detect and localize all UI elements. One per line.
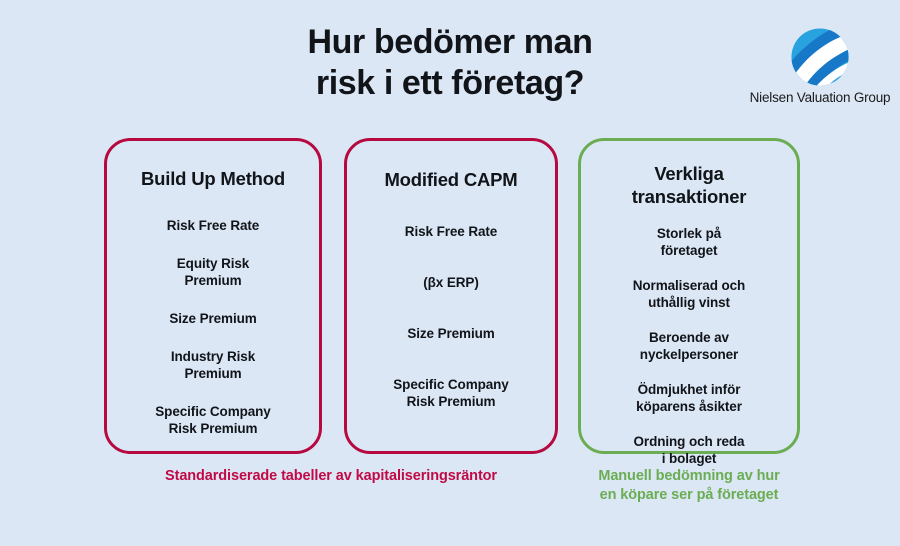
card-title-line-1: Build Up Method <box>141 168 285 189</box>
card-verkliga-transaktioner: Verkliga transaktioner Storlek på företa… <box>578 138 800 454</box>
card-title-build-up-method: Build Up Method <box>121 168 305 191</box>
brand-logo-text: Nielsen Valuation Group <box>742 90 898 105</box>
list-item-line-1: Industry Risk <box>121 348 305 365</box>
list-item-line-1: Risk Free Rate <box>361 223 541 240</box>
list-item: Ödmjukhet inför köparens åsikter <box>595 381 783 415</box>
list-item-line-1: Specific Company <box>121 403 305 420</box>
list-item-line-1: Ödmjukhet inför <box>595 381 783 398</box>
list-item-line-1: Storlek på <box>595 225 783 242</box>
list-item-line-1: Size Premium <box>121 310 305 327</box>
list-item: Normaliserad och uthållig vinst <box>595 277 783 311</box>
list-item: Risk Free Rate <box>121 217 305 234</box>
list-item-line-2: Premium <box>121 365 305 382</box>
card-title-modified-capm: Modified CAPM <box>361 169 541 192</box>
caption-manual-assessment: Manuell bedömning av hur en köpare ser p… <box>566 467 812 505</box>
caption-standardized-tables: Standardiserade tabeller av kapitaliseri… <box>104 467 558 486</box>
list-item-line-2: nyckelpersoner <box>595 346 783 363</box>
brand-logo: Nielsen Valuation Group <box>742 22 898 118</box>
list-item: Industry Risk Premium <box>121 348 305 382</box>
list-item-line-1: (βx ERP) <box>361 274 541 291</box>
list-item: Risk Free Rate <box>361 223 541 240</box>
list-item: (βx ERP) <box>361 274 541 291</box>
list-item-line-1: Beroende av <box>595 329 783 346</box>
list-item: Equity Risk Premium <box>121 255 305 289</box>
list-item-line-1: Specific Company <box>361 376 541 393</box>
card-title-verkliga-transaktioner: Verkliga transaktioner <box>595 163 783 208</box>
list-item-line-2: företaget <box>595 242 783 259</box>
list-item: Size Premium <box>121 310 305 327</box>
list-item-line-1: Normaliserad och <box>595 277 783 294</box>
list-item: Size Premium <box>361 325 541 342</box>
card-items-verkliga-transaktioner: Storlek på företaget Normaliserad och ut… <box>595 225 783 467</box>
globe-icon <box>742 22 898 92</box>
card-title-line-2: transaktioner <box>632 186 747 207</box>
card-items-build-up-method: Risk Free Rate Equity Risk Premium Size … <box>121 217 305 437</box>
list-item-line-1: Size Premium <box>361 325 541 342</box>
card-modified-capm: Modified CAPM Risk Free Rate (βx ERP) Si… <box>344 138 558 454</box>
list-item-line-2: Risk Premium <box>121 420 305 437</box>
card-build-up-method: Build Up Method Risk Free Rate Equity Ri… <box>104 138 322 454</box>
list-item: Specific Company Risk Premium <box>121 403 305 437</box>
list-item: Ordning och reda i bolaget <box>595 433 783 467</box>
list-item-line-2: Risk Premium <box>361 393 541 410</box>
card-items-modified-capm: Risk Free Rate (βx ERP) Size Premium Spe… <box>361 223 541 410</box>
list-item-line-1: Risk Free Rate <box>121 217 305 234</box>
card-title-line-1: Modified CAPM <box>384 169 517 190</box>
list-item: Specific Company Risk Premium <box>361 376 541 410</box>
list-item-line-2: uthållig vinst <box>595 294 783 311</box>
list-item: Beroende av nyckelpersoner <box>595 329 783 363</box>
list-item-line-2: köparens åsikter <box>595 398 783 415</box>
list-item-line-1: Equity Risk <box>121 255 305 272</box>
caption-line-1: Manuell bedömning av hur <box>566 467 812 486</box>
list-item-line-2: i bolaget <box>595 450 783 467</box>
methods-cards-row: Build Up Method Risk Free Rate Equity Ri… <box>0 138 900 456</box>
list-item-line-1: Ordning och reda <box>595 433 783 450</box>
list-item: Storlek på företaget <box>595 225 783 259</box>
list-item-line-2: Premium <box>121 272 305 289</box>
card-title-line-1: Verkliga <box>654 163 723 184</box>
caption-line-2: en köpare ser på företaget <box>566 486 812 505</box>
caption-line-1: Standardiserade tabeller av kapitaliseri… <box>104 467 558 486</box>
